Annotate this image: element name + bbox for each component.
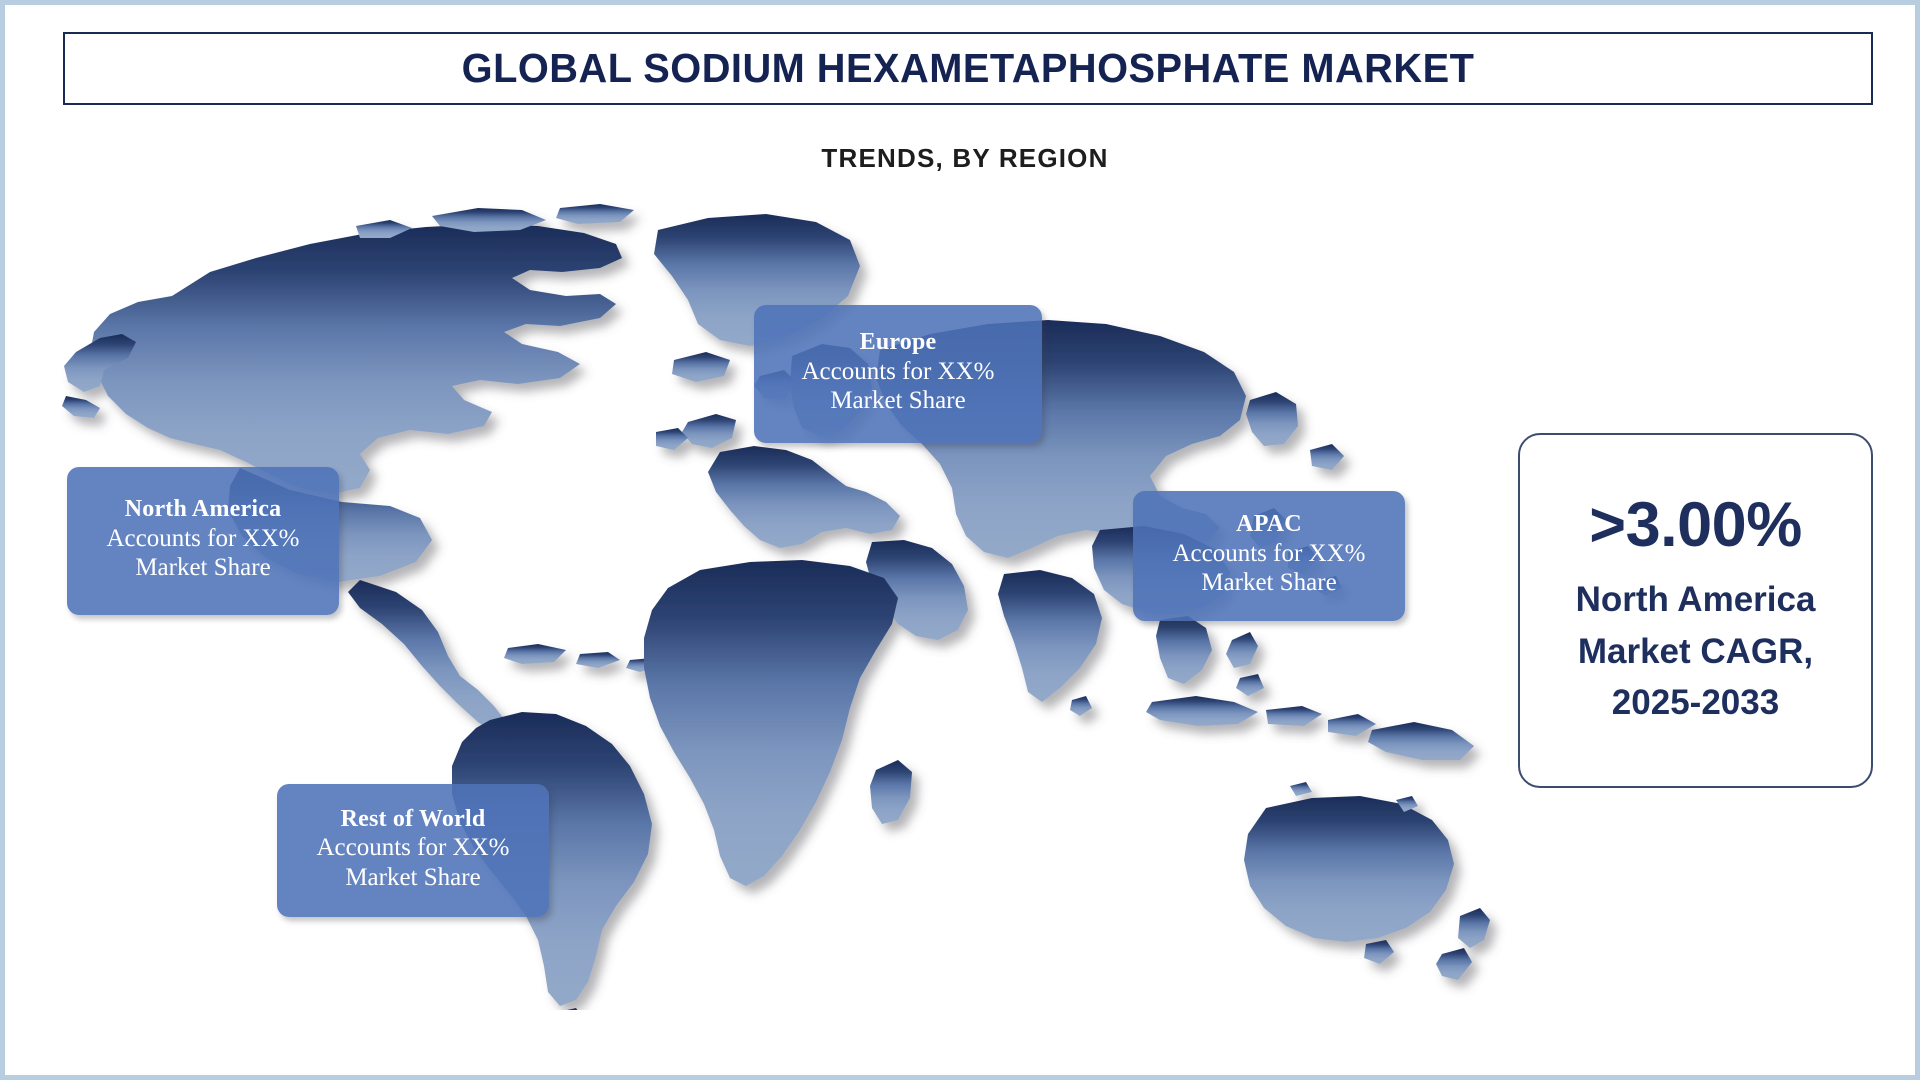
cagr-metric-label: Market CAGR, bbox=[1578, 626, 1813, 678]
region-title: North America bbox=[81, 495, 325, 523]
region-callout-north-america[interactable]: North America Accounts for XX% Market Sh… bbox=[67, 467, 339, 615]
region-share-line: Accounts for XX% bbox=[291, 833, 535, 863]
cagr-region-label: North America bbox=[1576, 574, 1816, 626]
region-share-line: Accounts for XX% bbox=[81, 524, 325, 554]
region-title: APAC bbox=[1147, 510, 1391, 538]
region-share-sublabel: Market Share bbox=[1147, 568, 1391, 598]
cagr-value: >3.00% bbox=[1589, 492, 1801, 558]
region-share-sublabel: Market Share bbox=[291, 863, 535, 893]
region-title: Rest of World bbox=[291, 805, 535, 833]
title-box: GLOBAL SODIUM HEXAMETAPHOSPHATE MARKET bbox=[63, 32, 1873, 105]
page-subtitle: TRENDS, BY REGION bbox=[5, 143, 1920, 174]
region-share-sublabel: Market Share bbox=[81, 553, 325, 583]
region-callout-apac[interactable]: APAC Accounts for XX% Market Share bbox=[1133, 491, 1405, 621]
infographic-canvas: GLOBAL SODIUM HEXAMETAPHOSPHATE MARKET T… bbox=[0, 0, 1920, 1080]
region-share-sublabel: Market Share bbox=[768, 386, 1028, 416]
region-share-line: Accounts for XX% bbox=[1147, 539, 1391, 569]
page-title: GLOBAL SODIUM HEXAMETAPHOSPHATE MARKET bbox=[462, 45, 1475, 92]
region-share-line: Accounts for XX% bbox=[768, 357, 1028, 387]
region-callout-europe[interactable]: Europe Accounts for XX% Market Share bbox=[754, 305, 1042, 443]
region-title: Europe bbox=[768, 328, 1028, 356]
region-callout-rest-of-world[interactable]: Rest of World Accounts for XX% Market Sh… bbox=[277, 784, 549, 917]
cagr-period-label: 2025-2033 bbox=[1612, 677, 1779, 729]
cagr-callout-panel: >3.00% North America Market CAGR, 2025-2… bbox=[1518, 433, 1873, 788]
